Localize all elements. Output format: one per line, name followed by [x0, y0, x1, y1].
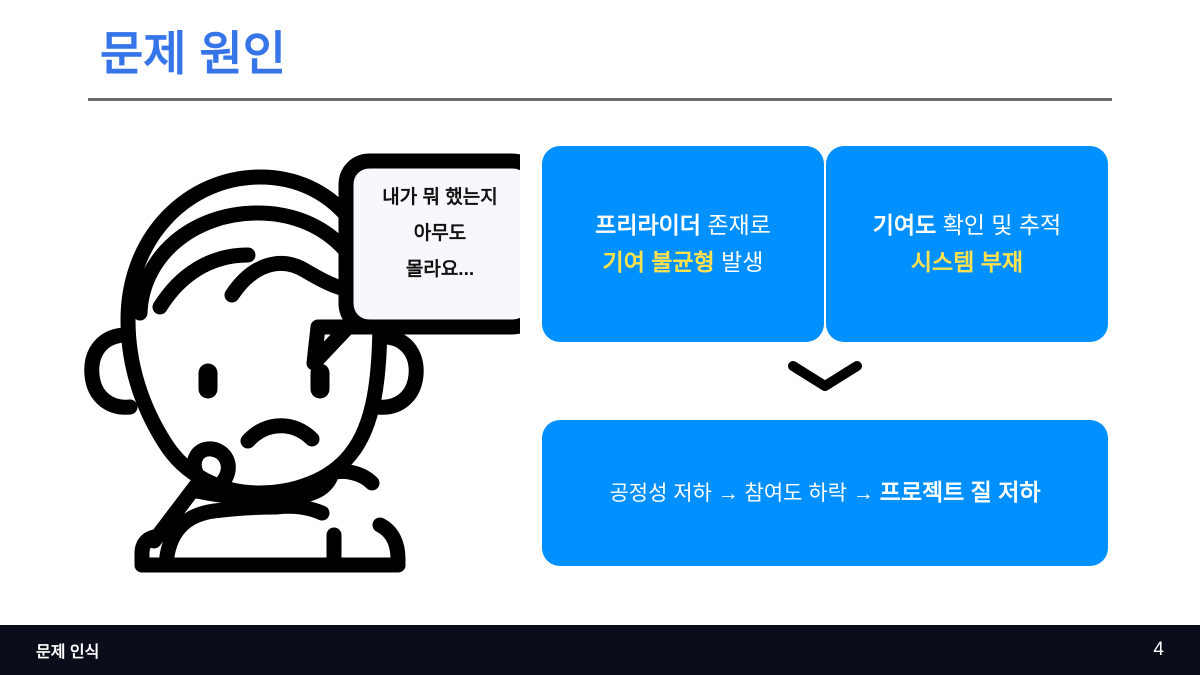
cause-card-freerider-strong1: 프리라이더 — [595, 212, 701, 238]
bubble-line-3: 몰라요... — [406, 258, 474, 280]
consequence-lead: 공정성 저하 → 참여도 하락 → — [609, 482, 879, 505]
confused-person-illustration: 내가 뭐 했는지 아무도 몰라요... — [80, 135, 520, 575]
consequence-emphasis: 프로젝트 질 저하 — [880, 479, 1041, 505]
cause-card-no-tracking-strong1: 기여도 — [873, 212, 936, 238]
cause-card-no-tracking-rest1: 확인 및 추적 — [936, 212, 1061, 238]
chevron-down-icon — [785, 358, 865, 394]
cause-card-freerider[interactable]: 프리라이더 존재로 기여 불균형 발생 — [542, 146, 824, 342]
cause-cards-row: 프리라이더 존재로 기여 불균형 발생 기여도 확인 및 추적 시스템 부재 — [542, 146, 1108, 342]
title-divider — [88, 98, 1112, 101]
slide-footer: 문제 인식 4 — [0, 625, 1200, 675]
slide-root: 문제 원인 — [0, 0, 1200, 675]
cause-card-no-tracking-line2: 시스템 부재 — [911, 244, 1023, 281]
cause-card-freerider-strong2: 기여 불균형 — [603, 249, 715, 275]
consequence-card[interactable]: 공정성 저하 → 참여도 하락 → 프로젝트 질 저하 — [542, 420, 1108, 566]
cause-card-no-tracking-strong2: 시스템 부재 — [911, 249, 1023, 275]
bubble-line-2: 아무도 — [414, 222, 466, 244]
cause-card-freerider-rest2: 발생 — [715, 249, 764, 275]
cause-cards-area: 프리라이더 존재로 기여 불균형 발생 기여도 확인 및 추적 시스템 부재 — [542, 146, 1108, 566]
cause-card-freerider-rest1: 존재로 — [701, 212, 771, 238]
consequence-card-text: 공정성 저하 → 참여도 하락 → 프로젝트 질 저하 — [609, 478, 1040, 508]
cause-card-freerider-line1: 프리라이더 존재로 — [595, 207, 771, 244]
cause-card-freerider-line2: 기여 불균형 발생 — [603, 244, 764, 281]
cause-card-no-tracking[interactable]: 기여도 확인 및 추적 시스템 부재 — [826, 146, 1108, 342]
footer-page-number: 4 — [1153, 639, 1164, 661]
page-title: 문제 원인 — [100, 30, 286, 77]
footer-section-label: 문제 인식 — [36, 638, 99, 662]
bubble-line-1: 내가 뭐 했는지 — [382, 186, 497, 208]
cause-card-no-tracking-line1: 기여도 확인 및 추적 — [873, 207, 1061, 244]
